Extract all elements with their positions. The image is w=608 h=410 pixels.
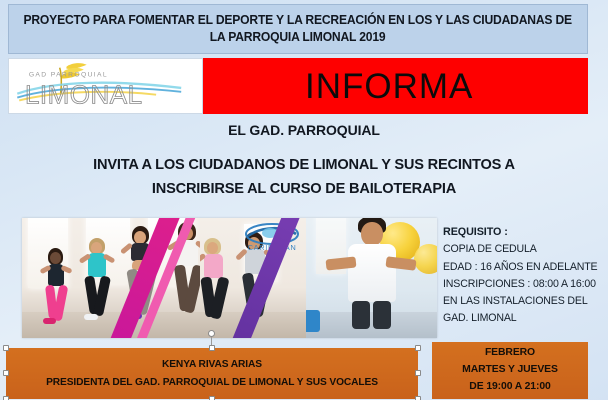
schedule-box[interactable]: FEBRERO MARTES Y JUEVES DE 19:00 A 21:00 — [432, 342, 588, 399]
resize-handle-ne[interactable] — [415, 345, 421, 351]
requirements-line-5: GAD. LIMONAL — [443, 310, 603, 327]
photo-panel-man-exercising — [306, 218, 437, 338]
informa-banner[interactable]: INFORMA — [203, 58, 588, 114]
resize-handle-e[interactable] — [415, 370, 421, 376]
requirements-block[interactable]: REQUISITO : COPIA DE CEDULA EDAD : 16 AÑ… — [443, 224, 603, 327]
invitation-block[interactable]: EL GAD. PARROQUIAL INVITA A LOS CIUDADAN… — [0, 122, 608, 201]
invitation-line-2: INSCRIBIRSE AL CURSO DE BAILOTERAPIA — [0, 178, 608, 202]
logo-main-text: LIMONAL — [25, 79, 143, 109]
photo-panel-zumba-group — [22, 218, 200, 338]
schedule-month: FEBRERO — [485, 345, 535, 362]
poster-title-line-2: LA PARROQUIA LIMONAL 2019 — [210, 29, 386, 46]
resize-handle-n[interactable] — [209, 345, 215, 351]
requirements-line-3: INSCRIPCIONES : 08:00 A 16:00 — [443, 276, 603, 293]
presidenta-name: KENYA RIVAS ARIAS — [162, 356, 262, 374]
requirements-line-1: COPIA DE CEDULA — [443, 241, 603, 258]
schedule-days: MARTES Y JUEVES — [462, 362, 558, 379]
invitation-line-1: INVITA A LOS CIUDADANOS DE LIMONAL Y SUS… — [0, 154, 608, 178]
presidenta-signature-box[interactable]: KENYA RIVAS ARIAS PRESIDENTA DEL GAD. PA… — [6, 348, 418, 399]
requirements-line-4: EN LAS INSTALACIONES DEL — [443, 293, 603, 310]
invitation-heading: EL GAD. PARROQUIAL — [0, 122, 608, 138]
poster-title-line-1: PROYECTO PARA FOMENTAR EL DEPORTE Y LA R… — [24, 12, 572, 29]
photo-panel-dance-class: CARIBBEAN — [200, 218, 306, 338]
logo-artwork: GAD PARROQUIAL LIMONAL — [9, 59, 202, 113]
gad-limonal-logo[interactable]: GAD PARROQUIAL LIMONAL — [8, 58, 203, 114]
presidenta-role: PRESIDENTA DEL GAD. PARROQUIAL DE LIMONA… — [46, 374, 378, 392]
requirements-line-2: EDAD : 16 AÑOS EN ADELANTE — [443, 259, 603, 276]
dumbbell-icon — [306, 310, 320, 332]
resize-handle-w[interactable] — [3, 370, 9, 376]
photo-collage[interactable]: CARIBBEAN — [22, 218, 437, 338]
logo-top-text: GAD PARROQUIAL — [29, 71, 108, 78]
resize-handle-nw[interactable] — [3, 345, 9, 351]
requirements-title: REQUISITO : — [443, 224, 603, 241]
informa-label: INFORMA — [305, 69, 473, 104]
poster-title-box[interactable]: PROYECTO PARA FOMENTAR EL DEPORTE Y LA R… — [8, 4, 588, 54]
bottom-margin — [0, 400, 608, 410]
rotation-handle[interactable] — [208, 330, 215, 337]
schedule-hours: DE 19:00 A 21:00 — [469, 379, 550, 396]
poster-slide: PROYECTO PARA FOMENTAR EL DEPORTE Y LA R… — [0, 0, 608, 410]
